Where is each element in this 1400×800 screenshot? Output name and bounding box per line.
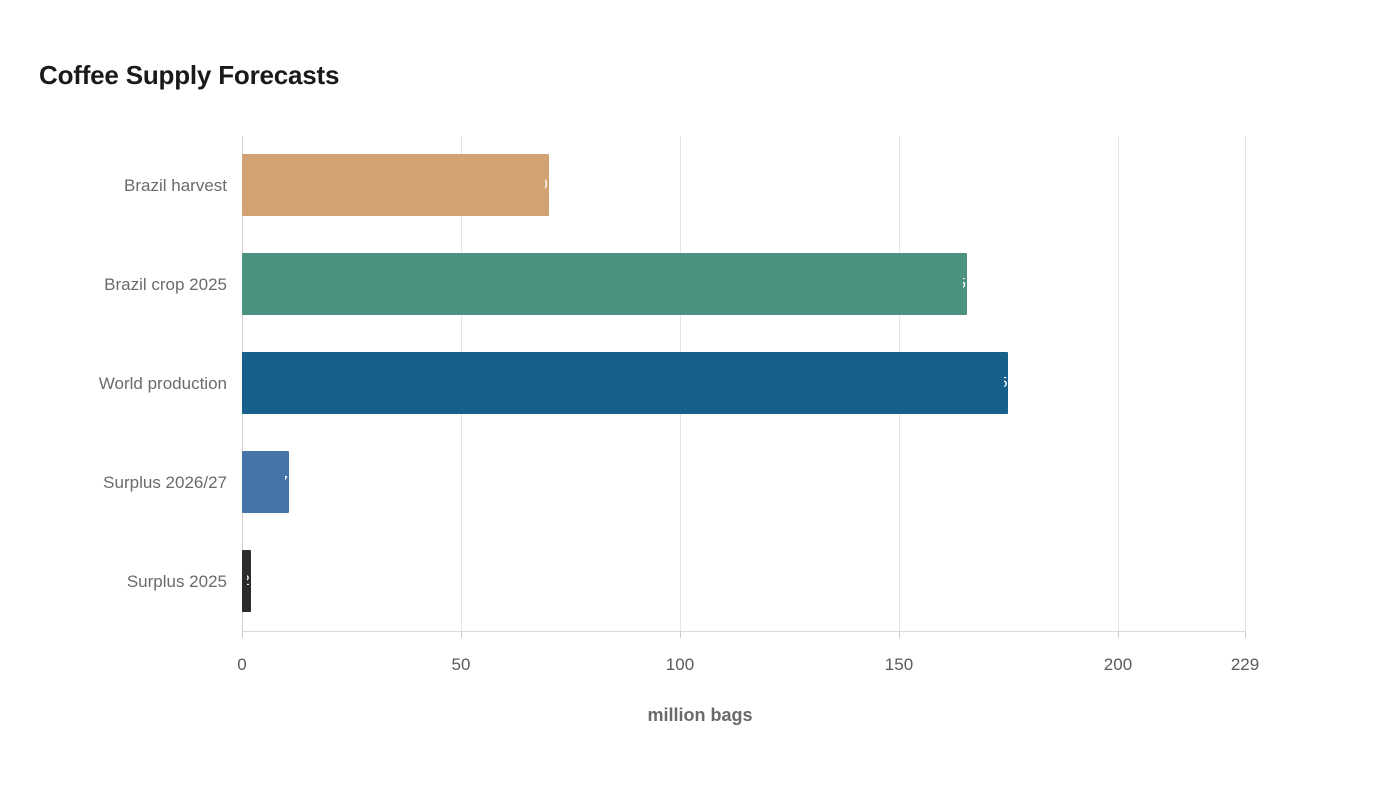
x-axis-line [242,631,1245,632]
bar[interactable] [242,253,967,315]
bar-value-label: 165.5 [963,253,966,315]
y-axis-tick-label: World production [0,374,227,394]
bar-row: 165.5 [242,235,1245,334]
bar[interactable] [242,352,1008,414]
bar-value-label: 70 [545,154,548,216]
bar-row: 10.7 [242,433,1245,532]
x-axis-tick-mark [899,631,900,638]
x-axis-tick-mark [1245,631,1246,638]
bar-row: 70 [242,136,1245,235]
bar-value-label: 10.7 [285,451,288,513]
x-axis-title: million bags [0,705,1400,726]
gridline-x-229 [1245,136,1246,631]
x-axis-tick-label: 0 [237,655,246,675]
chart-container: Coffee Supply Forecasts 70165.517510.72 … [0,0,1400,800]
bar[interactable] [242,451,289,513]
x-axis-tick-label: 100 [666,655,694,675]
plot-area: 70165.517510.72 [242,136,1245,631]
y-axis-tick-label: Surplus 2025 [0,572,227,592]
x-axis-tick-mark [461,631,462,638]
bar-value-label: 2 [247,550,250,612]
bar[interactable] [242,154,549,216]
chart-title: Coffee Supply Forecasts [39,60,339,91]
bar-row: 175 [242,334,1245,433]
y-axis-tick-label: Brazil crop 2025 [0,275,227,295]
y-axis-tick-label: Surplus 2026/27 [0,473,227,493]
x-axis-tick-label: 229 [1231,655,1259,675]
x-axis-tick-label: 200 [1104,655,1132,675]
x-axis-tick-label: 150 [885,655,913,675]
bar-row: 2 [242,532,1245,631]
bar-value-label: 175 [1004,352,1007,414]
x-axis-tick-mark [680,631,681,638]
x-axis-tick-mark [1118,631,1119,638]
x-axis-tick-label: 50 [452,655,471,675]
y-axis-tick-label: Brazil harvest [0,176,227,196]
x-axis-tick-mark [242,631,243,638]
